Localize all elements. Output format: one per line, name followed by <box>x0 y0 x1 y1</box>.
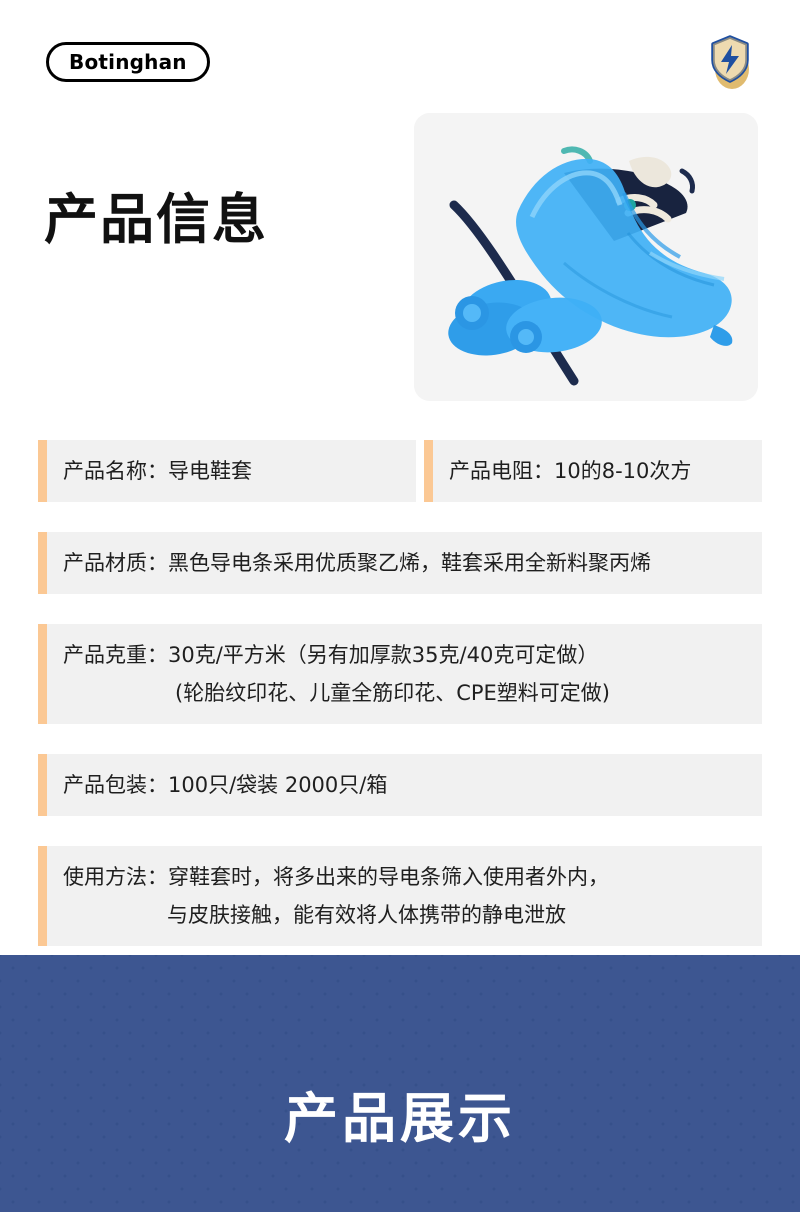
brand-logo: Botinghan <box>46 42 210 82</box>
info-cell-text: 产品电阻：10的8-10次方 <box>433 440 691 502</box>
info-line-2: 与皮肤接触，能有效将人体携带的静电泄放 <box>63 896 609 934</box>
info-cell-text: 产品克重：30克/平方米（另有加厚款35克/40克可定做） (轮胎纹印花、儿童全… <box>47 624 610 724</box>
accent-bar <box>424 440 433 502</box>
table-row: 产品包装：100只/袋装 2000只/箱 <box>38 754 762 816</box>
accent-bar <box>38 624 47 724</box>
info-cell-text: 产品材质：黑色导电条采用优质聚乙烯，鞋套采用全新料聚丙烯 <box>47 532 651 594</box>
info-cell-text: 使用方法：穿鞋套时，将多出来的导电条筛入使用者外内， 与皮肤接触，能有效将人体携… <box>47 846 609 946</box>
accent-bar <box>38 754 47 816</box>
product-showcase-banner: 产品展示 <box>0 955 800 1212</box>
info-cell-product-name: 产品名称：导电鞋套 <box>38 440 416 502</box>
info-cell-material: 产品材质：黑色导电条采用优质聚乙烯，鞋套采用全新料聚丙烯 <box>38 532 762 594</box>
accent-bar <box>38 846 47 946</box>
page-title: 产品信息 <box>44 193 268 247</box>
page-header: Botinghan <box>0 0 800 110</box>
info-line-2: (轮胎纹印花、儿童全筋印花、CPE塑料可定做) <box>63 674 610 712</box>
table-row: 产品名称：导电鞋套 产品电阻：10的8-10次方 <box>38 440 762 502</box>
table-row: 产品克重：30克/平方米（另有加厚款35克/40克可定做） (轮胎纹印花、儿童全… <box>38 624 762 724</box>
cell-gap <box>416 440 424 502</box>
table-row: 使用方法：穿鞋套时，将多出来的导电条筛入使用者外内， 与皮肤接触，能有效将人体携… <box>38 846 762 946</box>
info-cell-text: 产品包装：100只/袋装 2000只/箱 <box>47 754 387 816</box>
info-line-1: 使用方法：穿鞋套时，将多出来的导电条筛入使用者外内， <box>63 865 609 889</box>
info-cell-weight: 产品克重：30克/平方米（另有加厚款35克/40克可定做） (轮胎纹印花、儿童全… <box>38 624 762 724</box>
shield-lightning-icon <box>702 32 758 92</box>
info-line-1: 产品克重：30克/平方米（另有加厚款35克/40克可定做） <box>63 643 598 667</box>
info-line-1: 产品包装：100只/袋装 2000只/箱 <box>63 773 387 797</box>
info-cell-resistance: 产品电阻：10的8-10次方 <box>424 440 762 502</box>
info-cell-usage: 使用方法：穿鞋套时，将多出来的导电条筛入使用者外内， 与皮肤接触，能有效将人体携… <box>38 846 762 946</box>
table-row: 产品材质：黑色导电条采用优质聚乙烯，鞋套采用全新料聚丙烯 <box>38 532 762 594</box>
info-cell-packaging: 产品包装：100只/袋装 2000只/箱 <box>38 754 762 816</box>
product-photo <box>414 113 758 401</box>
product-info-table: 产品名称：导电鞋套 产品电阻：10的8-10次方 产品材质：黑色导电条采用优质聚… <box>38 440 762 946</box>
banner-title: 产品展示 <box>284 1092 516 1146</box>
accent-bar <box>38 532 47 594</box>
info-line-1: 产品材质：黑色导电条采用优质聚乙烯，鞋套采用全新料聚丙烯 <box>63 551 651 575</box>
brand-logo-label: Botinghan <box>69 52 187 72</box>
accent-bar <box>38 440 47 502</box>
info-cell-text: 产品名称：导电鞋套 <box>47 440 252 502</box>
